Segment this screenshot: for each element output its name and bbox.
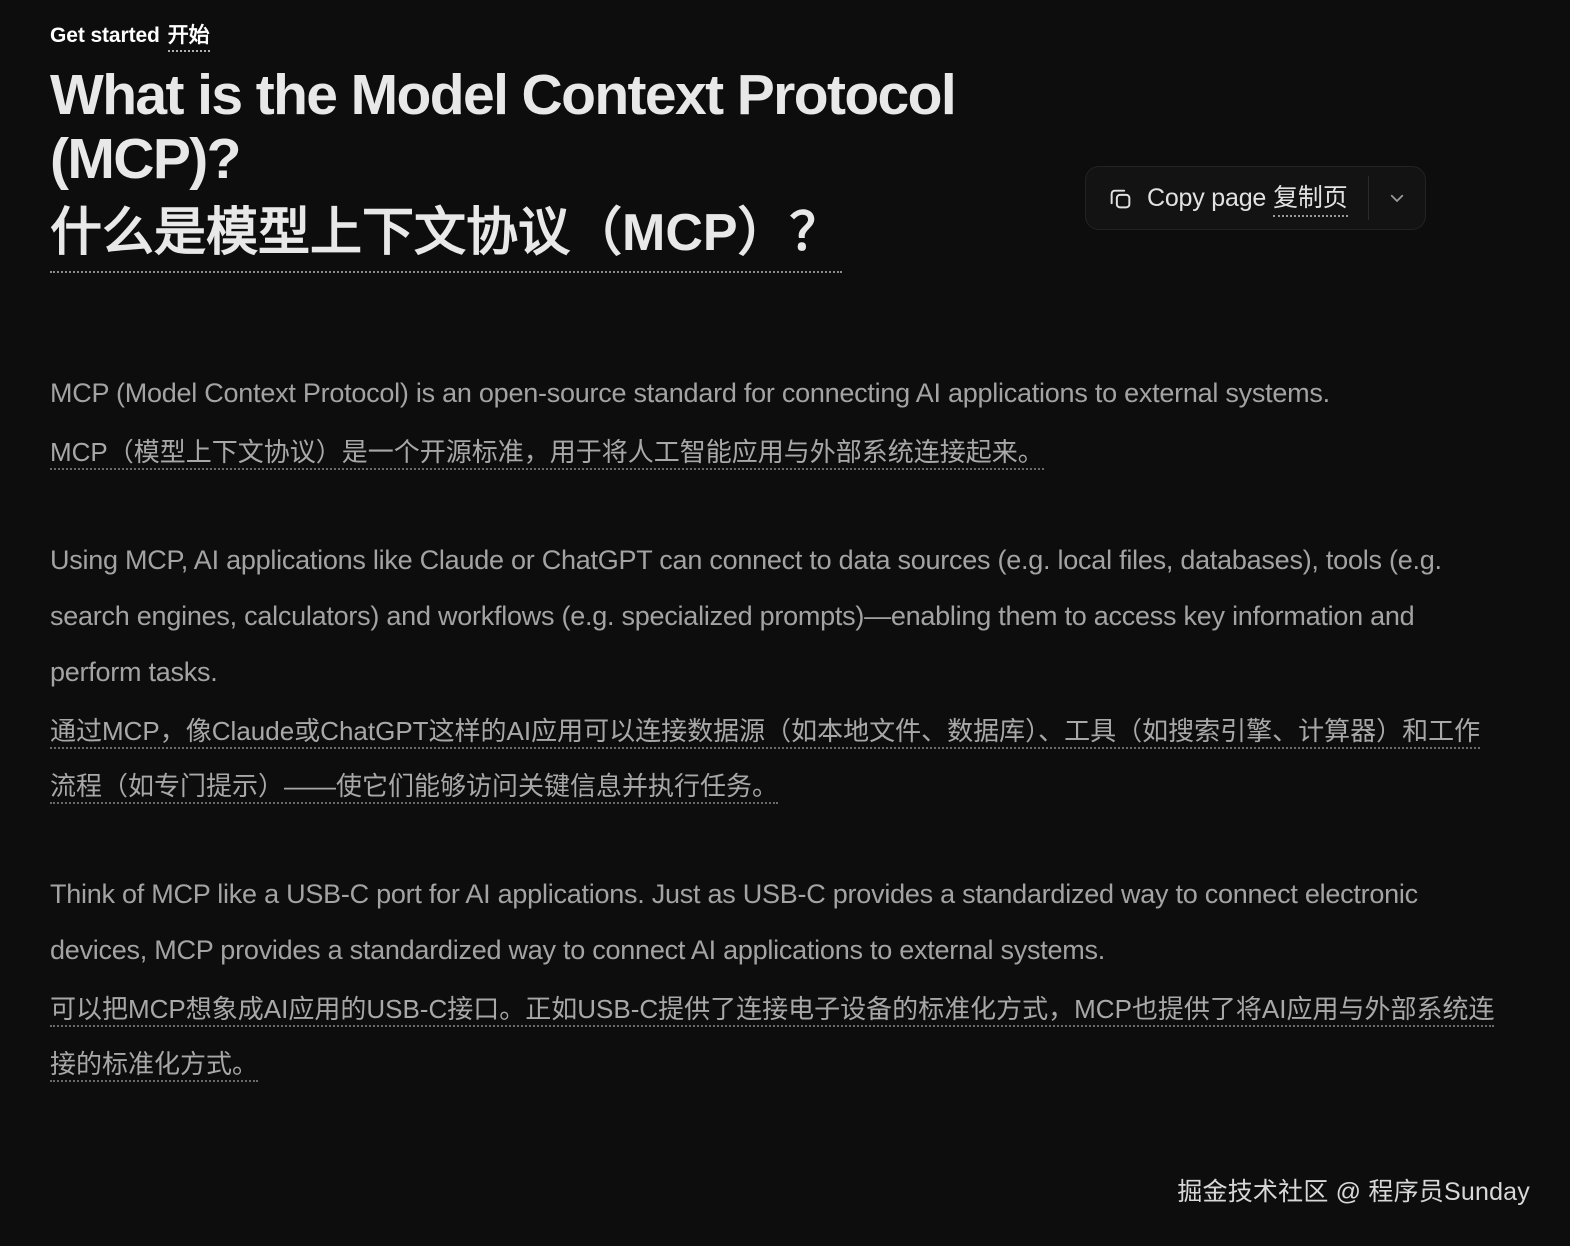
copy-page-label: Copy page复制页 bbox=[1147, 183, 1348, 213]
breadcrumb-label-en: Get started bbox=[50, 24, 160, 47]
paragraph-zh-text: 通过MCP，像Claude或ChatGPT这样的AI应用可以连接数据源（如本地文… bbox=[50, 716, 1480, 804]
paragraph-en: MCP (Model Context Protocol) is an open-… bbox=[50, 365, 1490, 421]
page-title-zh: 什么是模型上下文协议（MCP）？ bbox=[50, 202, 842, 273]
paragraph-block: MCP (Model Context Protocol) is an open-… bbox=[50, 365, 1500, 480]
paragraph-zh: 可以把MCP想象成AI应用的USB-C接口。正如USB-C提供了连接电子设备的标… bbox=[50, 982, 1498, 1092]
page-title: What is the Model Context Protocol (MCP)… bbox=[50, 64, 1060, 273]
page-root: Get started开始 What is the Model Context … bbox=[0, 0, 1570, 1246]
paragraph-zh: 通过MCP，像Claude或ChatGPT这样的AI应用可以连接数据源（如本地文… bbox=[50, 704, 1498, 814]
breadcrumb[interactable]: Get started开始 bbox=[50, 22, 1500, 50]
copy-page-dropdown-toggle[interactable] bbox=[1369, 167, 1425, 229]
paragraph-zh-text: 可以把MCP想象成AI应用的USB-C接口。正如USB-C提供了连接电子设备的标… bbox=[50, 994, 1494, 1082]
copy-page-label-en: Copy page bbox=[1147, 184, 1266, 212]
paragraph-en: Using MCP, AI applications like Claude o… bbox=[50, 532, 1490, 700]
paragraph-block: Using MCP, AI applications like Claude o… bbox=[50, 532, 1500, 814]
copy-icon bbox=[1108, 186, 1133, 211]
chevron-down-icon bbox=[1388, 189, 1406, 207]
paragraph-zh: MCP（模型上下文协议）是一个开源标准，用于将人工智能应用与外部系统连接起来。 bbox=[50, 425, 1498, 480]
paragraph-block: Think of MCP like a USB-C port for AI ap… bbox=[50, 866, 1500, 1092]
breadcrumb-label-zh: 开始 bbox=[168, 24, 210, 52]
watermark: 掘金技术社区 @ 程序员Sunday bbox=[1177, 1172, 1530, 1208]
copy-page-control[interactable]: Copy page复制页 bbox=[1085, 166, 1426, 230]
paragraph-zh-text: MCP（模型上下文协议）是一个开源标准，用于将人工智能应用与外部系统连接起来。 bbox=[50, 437, 1044, 470]
copy-page-label-zh: 复制页 bbox=[1273, 184, 1347, 217]
paragraph-en: Think of MCP like a USB-C port for AI ap… bbox=[50, 866, 1490, 978]
copy-page-button[interactable]: Copy page复制页 bbox=[1086, 167, 1368, 229]
page-title-en: What is the Model Context Protocol (MCP)… bbox=[50, 64, 1040, 192]
article-body: MCP (Model Context Protocol) is an open-… bbox=[50, 365, 1500, 1092]
